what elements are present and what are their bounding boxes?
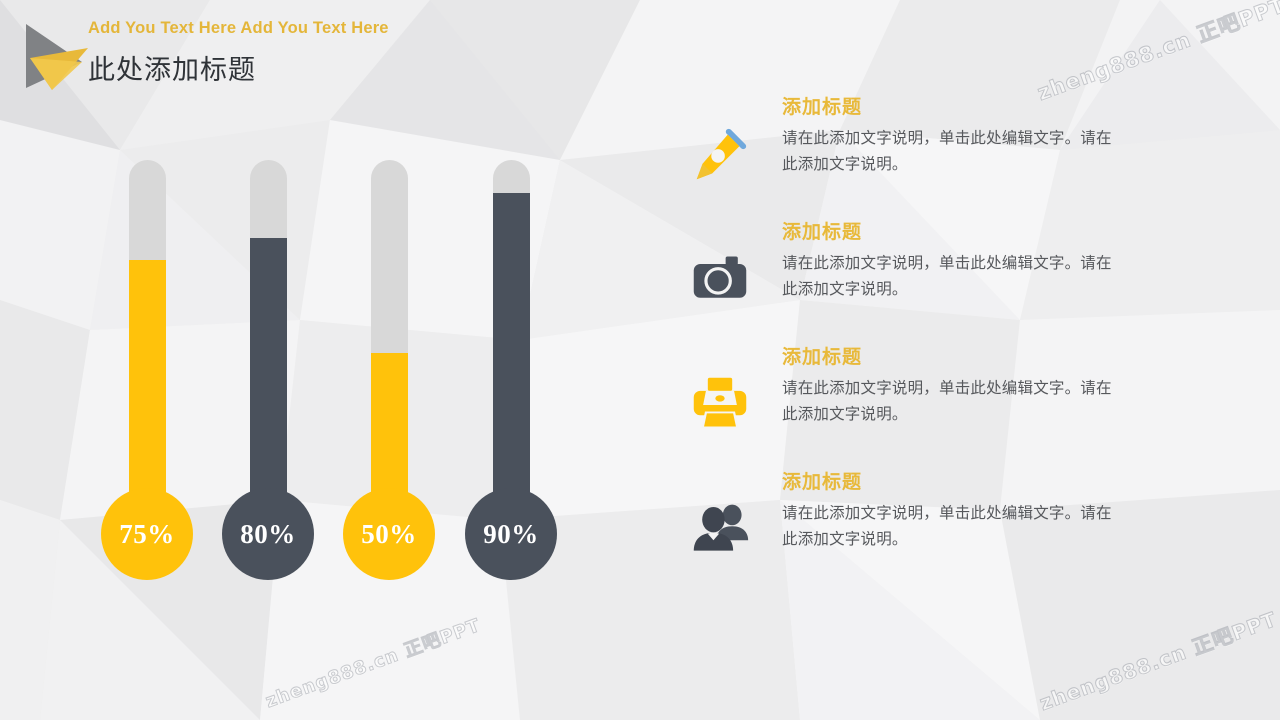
list-item-title: 添加标题 [782, 471, 1112, 495]
list-item-description: 请在此添加文字说明，单击此处编辑文字。请在此添加文字说明。 [782, 501, 1112, 554]
list-item-text: 添加标题 请在此添加文字说明，单击此处编辑文字。请在此添加文字说明。 [782, 96, 1112, 179]
slide: zheng888.cn 正吧PPT zheng888.cn 正吧PPT zhen… [0, 0, 1280, 720]
list-item-description: 请在此添加文字说明，单击此处编辑文字。请在此添加文字说明。 [782, 376, 1112, 429]
list-item[interactable]: 添加标题 请在此添加文字说明，单击此处编辑文字。请在此添加文字说明。 [682, 346, 1112, 471]
list-item-title: 添加标题 [782, 221, 1112, 245]
list-item[interactable]: 添加标题 请在此添加文字说明，单击此处编辑文字。请在此添加文字说明。 [682, 96, 1112, 221]
thermometer-tube [129, 160, 166, 506]
thermometer-tube [371, 160, 408, 506]
header-subtitle: Add You Text Here Add You Text Here [88, 19, 389, 38]
thermometer-bulb[interactable]: 50% [343, 488, 435, 580]
thermometer-bulb[interactable]: 90% [465, 488, 557, 580]
thermometer-value-label: 50% [361, 519, 417, 550]
list-item-text: 添加标题 请在此添加文字说明，单击此处编辑文字。请在此添加文字说明。 [782, 346, 1112, 429]
printer-icon [682, 368, 758, 440]
fountain-pen-nib-icon [682, 118, 758, 190]
list-item-title: 添加标题 [782, 346, 1112, 370]
thermometer-value-label: 80% [240, 519, 296, 550]
list-item-text: 添加标题 请在此添加文字说明，单击此处编辑文字。请在此添加文字说明。 [782, 471, 1112, 554]
content-list: 添加标题 请在此添加文字说明，单击此处编辑文字。请在此添加文字说明。 添加标题 … [682, 96, 1112, 596]
thermometer-fill [250, 238, 287, 506]
thermometer-tube [250, 160, 287, 506]
list-item[interactable]: 添加标题 请在此添加文字说明，单击此处编辑文字。请在此添加文字说明。 [682, 221, 1112, 346]
page-title: 此处添加标题 [88, 48, 256, 87]
list-item-description: 请在此添加文字说明，单击此处编辑文字。请在此添加文字说明。 [782, 251, 1112, 304]
people-group-icon [682, 493, 758, 565]
list-item-description: 请在此添加文字说明，单击此处编辑文字。请在此添加文字说明。 [782, 126, 1112, 179]
thermometer-value-label: 90% [483, 519, 539, 550]
thermometer-bulb[interactable]: 80% [222, 488, 314, 580]
thermometer-value-label: 75% [119, 519, 175, 550]
list-item-text: 添加标题 请在此添加文字说明，单击此处编辑文字。请在此添加文字说明。 [782, 221, 1112, 304]
list-item[interactable]: 添加标题 请在此添加文字说明，单击此处编辑文字。请在此添加文字说明。 [682, 471, 1112, 596]
thermometer-fill [129, 260, 166, 506]
play-arrow-logo [8, 18, 94, 94]
thermometer-bulb[interactable]: 75% [101, 488, 193, 580]
list-item-title: 添加标题 [782, 96, 1112, 120]
camera-icon [682, 243, 758, 315]
thermometer-fill [493, 193, 530, 506]
thermometer-fill [371, 353, 408, 506]
thermometer-tube [493, 160, 530, 506]
